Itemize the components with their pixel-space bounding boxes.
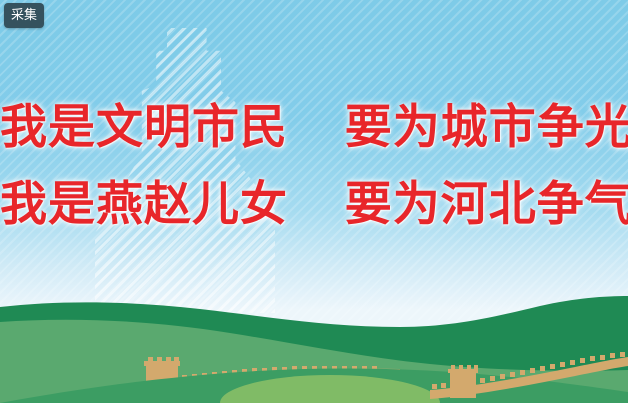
slogan-line-2: 我是燕赵儿女 要为河北争气	[0, 181, 628, 228]
slogan-line-1-part-b: 要为城市争光	[345, 100, 628, 155]
slogan-line-2-part-a: 我是燕赵儿女	[0, 177, 288, 232]
slogan-line-2-part-b: 要为河北争气	[345, 177, 628, 232]
slogan-line-1-part-a: 我是文明市民	[0, 100, 288, 155]
capture-button[interactable]: 采集	[4, 3, 44, 28]
banner-canvas: 采集 我是文明市民 要为城市争光 我是燕赵儿女 要为河北争气	[0, 0, 628, 403]
watchtower-right	[450, 372, 476, 398]
slogan-line-1: 我是文明市民 要为城市争光	[0, 104, 628, 151]
